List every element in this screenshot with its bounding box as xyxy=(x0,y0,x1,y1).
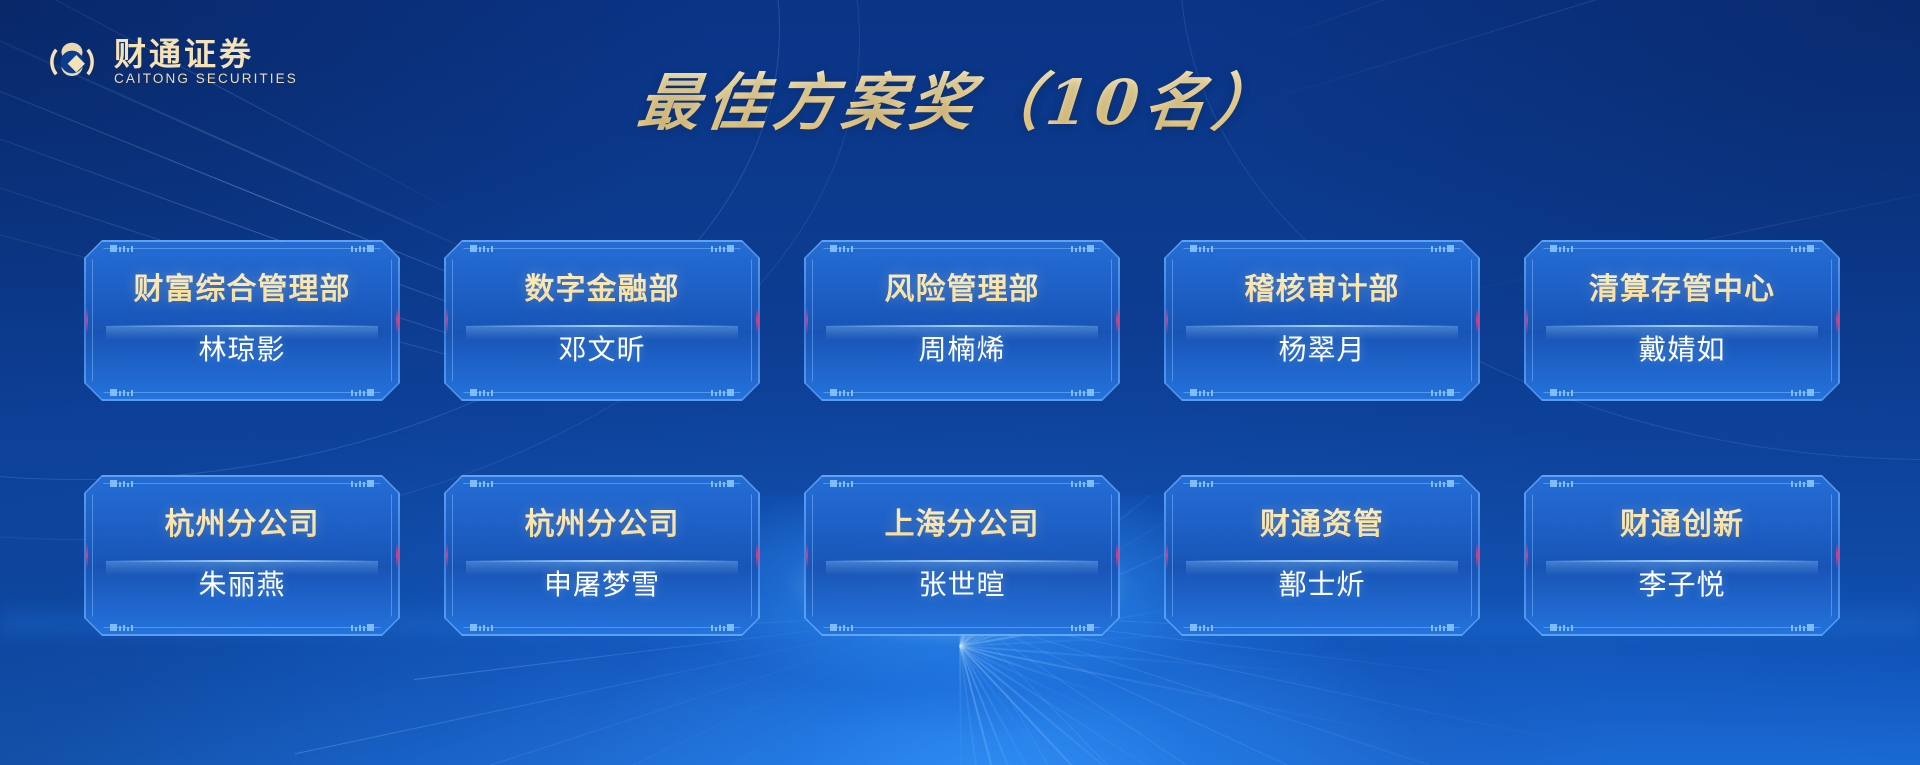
page-title: 最佳方案奖（10名） xyxy=(633,52,1286,142)
award-card[interactable]: 数字金融部邓文昕 xyxy=(440,232,764,409)
award-card[interactable]: 稽核审计部杨翠月 xyxy=(1160,232,1484,409)
award-department: 杭州分公司 xyxy=(165,496,320,554)
award-recipient: 邓文昕 xyxy=(558,319,645,381)
award-card[interactable]: 风险管理部周楠烯 xyxy=(800,232,1124,409)
award-recipient: 林琼影 xyxy=(198,319,285,381)
page-title-wrap: 最佳方案奖（10名） xyxy=(0,52,1920,142)
award-department: 清算存管中心 xyxy=(1589,261,1775,319)
award-department: 上海分公司 xyxy=(885,496,1040,554)
award-card[interactable]: 财富综合管理部林琼影 xyxy=(80,232,404,409)
award-grid: 财富综合管理部林琼影数字金融部邓文昕风险管理部周楠烯稽核审计部杨翠月清算存管中心… xyxy=(80,232,1840,644)
award-recipient: 张世暄 xyxy=(918,554,1005,616)
award-department: 风险管理部 xyxy=(885,261,1040,319)
award-card[interactable]: 财通资管鄯士炘 xyxy=(1160,467,1484,644)
award-card[interactable]: 上海分公司张世暄 xyxy=(800,467,1124,644)
award-card[interactable]: 清算存管中心戴婧如 xyxy=(1520,232,1844,409)
award-card[interactable]: 杭州分公司申屠梦雪 xyxy=(440,467,764,644)
award-row: 杭州分公司朱丽燕杭州分公司申屠梦雪上海分公司张世暄财通资管鄯士炘财通创新李子悦 xyxy=(80,467,1840,644)
award-recipient: 鄯士炘 xyxy=(1278,554,1365,616)
award-card[interactable]: 杭州分公司朱丽燕 xyxy=(80,467,404,644)
slide-stage: 财通证券 CAITONG SECURITIES 最佳方案奖（10名） 财富综合管… xyxy=(0,0,1920,765)
award-department: 稽核审计部 xyxy=(1245,261,1400,319)
award-recipient: 李子悦 xyxy=(1638,554,1725,616)
award-department: 杭州分公司 xyxy=(525,496,680,554)
award-recipient: 朱丽燕 xyxy=(198,554,285,616)
award-department: 财通资管 xyxy=(1260,496,1384,554)
award-recipient: 戴婧如 xyxy=(1638,319,1725,381)
award-department: 财富综合管理部 xyxy=(134,261,351,319)
award-recipient: 周楠烯 xyxy=(918,319,1005,381)
award-department: 数字金融部 xyxy=(525,261,680,319)
award-department: 财通创新 xyxy=(1620,496,1744,554)
award-card[interactable]: 财通创新李子悦 xyxy=(1520,467,1844,644)
award-recipient: 杨翠月 xyxy=(1278,319,1365,381)
award-recipient: 申屠梦雪 xyxy=(544,554,660,616)
award-row: 财富综合管理部林琼影数字金融部邓文昕风险管理部周楠烯稽核审计部杨翠月清算存管中心… xyxy=(80,232,1840,409)
